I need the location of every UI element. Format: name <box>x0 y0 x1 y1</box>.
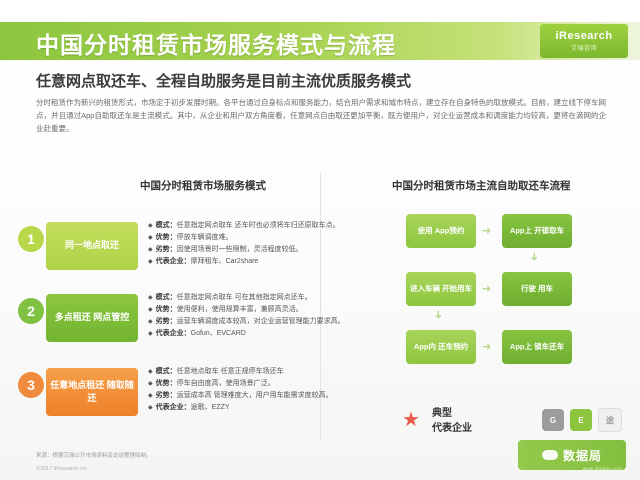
mode-bullets-3: ◆模式：任意地点取车 任意正规停车场还车 ◆优势：停车自由度高，使用场景广泛。 … <box>148 366 328 414</box>
iresearch-logo: iResearch 艾瑞咨询 <box>540 24 628 58</box>
slide-root: 中国分时租赁市场服务模式与流程 iResearch 艾瑞咨询 任意网点取还车、全… <box>0 0 640 480</box>
star-icon: ★ <box>402 410 420 430</box>
logo-main-text: iResearch <box>555 30 612 42</box>
mode-bullets-1: ◆模式：任意指定网点取车 还车时也必须将车归还原取车点。 ◆优势：停放车辆调度难… <box>148 220 328 268</box>
bullet-item: ◆模式：任意指定网点取车 可在其他指定网点还车。 <box>148 292 328 304</box>
brand-logo-3: 途 <box>598 408 622 432</box>
mode-number-3: 3 <box>18 372 44 398</box>
page-subtitle: 任意网点取还车、全程自助服务是目前主流优质服务模式 <box>36 70 411 91</box>
flow-step-5: App内 还车预约 <box>406 330 476 364</box>
copyright-note: ©2017 iResearch Inc. <box>36 466 89 472</box>
mode-row-2: 2 多点租还 网点管控 ◆模式：任意指定网点取车 可在其他指定网点还车。 ◆优势… <box>18 294 318 352</box>
mode-row-3: 3 任意地点租还 随取随还 ◆模式：任意地点取车 任意正规停车场还车 ◆优势：停… <box>18 368 318 426</box>
diamond-icon: ◆ <box>148 331 153 337</box>
diamond-icon: ◆ <box>148 369 153 375</box>
bullet-item: ◆代表企业：摩拜租车、Car2share <box>148 256 328 268</box>
flow-step-6: App上 锁车还车 <box>502 330 572 364</box>
lead-paragraph: 分时租赁作为新兴的租赁形式，市场定于初步发展时期。各平台通过自身标点和服务能力，… <box>36 96 606 135</box>
logo-sub-text: 艾瑞咨询 <box>571 43 597 52</box>
flow-arrow-right-2: ➜ <box>482 282 491 295</box>
flow-arrow-down-2: ➜ <box>432 310 445 319</box>
bullet-item: ◆模式：任意指定网点取车 还车时也必须将车归还原取车点。 <box>148 220 328 232</box>
diamond-icon: ◆ <box>148 381 153 387</box>
bullet-item: ◆劣势：运营车辆调度成本较高，对企业运营管理能力要求高。 <box>148 316 328 328</box>
mode-tag-3: 任意地点租还 随取随还 <box>46 368 138 416</box>
typical-line-1: 典型 <box>432 406 472 421</box>
flow-arrow-right-1: ➜ <box>482 224 491 237</box>
left-section-heading: 中国分时租赁市场服务模式 <box>140 178 266 193</box>
flow-arrow-right-3: ➜ <box>482 340 491 353</box>
typical-line-2: 代表企业 <box>432 421 472 436</box>
typical-label: 典型 代表企业 <box>432 406 472 436</box>
diamond-icon: ◆ <box>148 393 153 399</box>
watermark-url: www.shujuju.com <box>583 466 622 471</box>
bullet-item: ◆劣势：运营成本高 管理难度大，用户用车能需求度较高。 <box>148 390 328 402</box>
bullet-item: ◆模式：任意地点取车 任意正规停车场还车 <box>148 366 328 378</box>
mode-row-1: 1 同一地点取还 ◆模式：任意指定网点取车 还车时也必须将车归还原取车点。 ◆优… <box>18 222 318 280</box>
page-title: 中国分时租赁市场服务模式与流程 <box>36 26 396 60</box>
diamond-icon: ◆ <box>148 319 153 325</box>
bullet-item: ◆劣势：因使用场景时一些限制，灵活程度较低。 <box>148 244 328 256</box>
mode-number-1: 1 <box>18 226 44 252</box>
diamond-icon: ◆ <box>148 259 153 265</box>
bullet-item: ◆优势：停放车辆调度难。 <box>148 232 328 244</box>
brand-logos: G E 途 <box>542 408 622 432</box>
flow-step-1: 使用 App预约 <box>406 214 476 248</box>
watermark: 数据局 www.shujuju.com <box>518 440 626 470</box>
diamond-icon: ◆ <box>148 295 153 301</box>
brand-logo-2: E <box>570 409 592 431</box>
diamond-icon: ◆ <box>148 223 153 229</box>
bullet-item: ◆优势：停车自由度高，使用场景广泛。 <box>148 378 328 390</box>
source-note: 来源：根据艾瑞公开市场资料及访谈整理绘制。 <box>36 452 152 461</box>
bullet-item: ◆优势：使用便利，使用规算丰富，兼顾高灵活。 <box>148 304 328 316</box>
flow-arrow-down-1: ➜ <box>528 252 541 261</box>
mode-number-2: 2 <box>18 298 44 324</box>
flow-step-4: 行驶 用车 <box>502 272 572 306</box>
mode-tag-2: 多点租还 网点管控 <box>46 294 138 342</box>
brand-logo-1: G <box>542 409 564 431</box>
diamond-icon: ◆ <box>148 235 153 241</box>
watermark-text: 数据局 <box>563 447 602 464</box>
flow-step-2: App上 开锁取车 <box>502 214 572 248</box>
right-section-heading: 中国分时租赁市场主流自助取还车流程 <box>392 178 571 193</box>
bullet-item: ◆代表企业：Gofun、EVCARD <box>148 328 328 340</box>
mode-bullets-2: ◆模式：任意指定网点取车 可在其他指定网点还车。 ◆优势：使用便利，使用规算丰富… <box>148 292 328 340</box>
bullet-item: ◆代表企业：途歌、EZZY <box>148 402 328 414</box>
flow-step-3: 进入车辆 开始用车 <box>406 272 476 306</box>
cloud-icon <box>542 450 558 460</box>
diamond-icon: ◆ <box>148 405 153 411</box>
diamond-icon: ◆ <box>148 307 153 313</box>
diamond-icon: ◆ <box>148 247 153 253</box>
mode-tag-1: 同一地点取还 <box>46 222 138 270</box>
